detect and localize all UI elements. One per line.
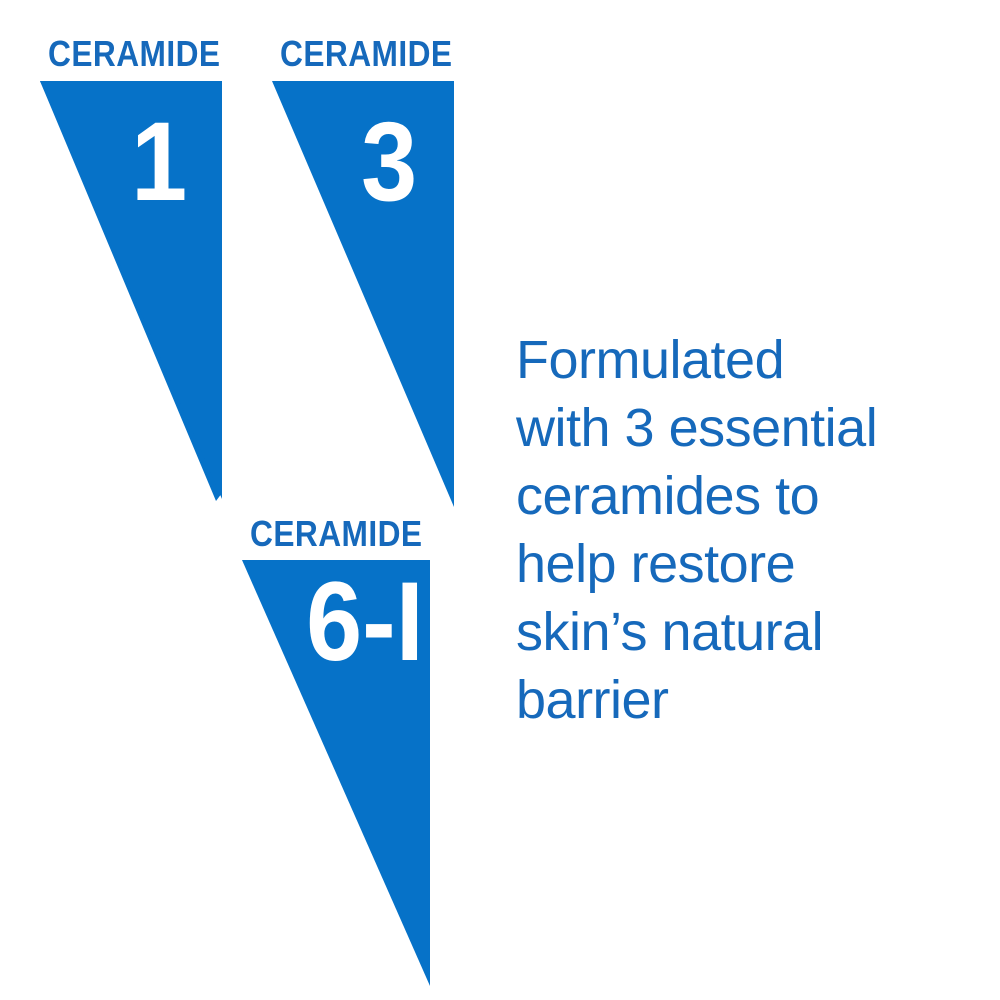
ceramide-3-label: CERAMIDE bbox=[280, 36, 452, 72]
marketing-copy-block: Formulated with 3 essential ceramides to… bbox=[516, 326, 966, 734]
copy-line: skin’s natural bbox=[516, 598, 966, 666]
copy-line: ceramides to bbox=[516, 462, 966, 530]
ceramide-1-label: CERAMIDE bbox=[48, 36, 220, 72]
ceramide-6-ii-number: 6-II bbox=[306, 566, 452, 678]
copy-line: Formulated bbox=[516, 326, 966, 394]
copy-line: barrier bbox=[516, 666, 966, 734]
ceramide-1-number: 1 bbox=[131, 106, 187, 218]
copy-line: help restore bbox=[516, 530, 966, 598]
copy-line: with 3 essential bbox=[516, 394, 966, 462]
ceramide-3-number: 3 bbox=[361, 106, 417, 218]
ceramide-6-ii-label: CERAMIDE bbox=[250, 516, 422, 552]
infographic-canvas: CERAMIDE 1 CERAMIDE 3 CERAMIDE 6-II Form… bbox=[0, 0, 1000, 1000]
